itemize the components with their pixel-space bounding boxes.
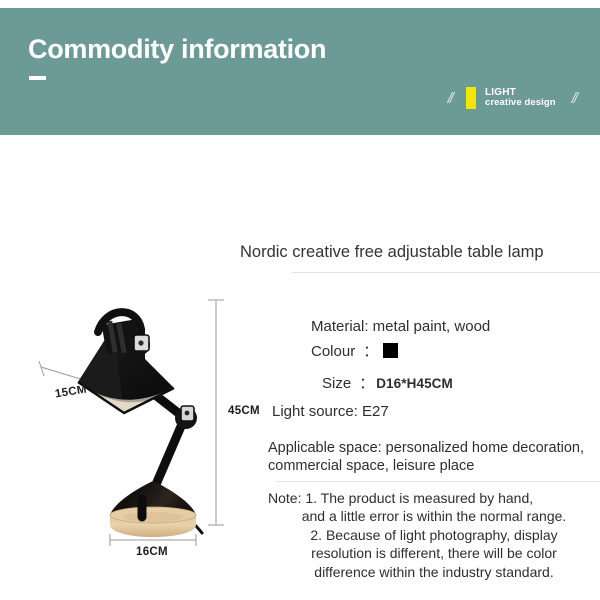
dimension-label-base: 16CM (136, 546, 168, 558)
brand-cluster: // LIGHT creative design // (446, 80, 578, 116)
brand-text-block: LIGHT creative design (485, 87, 556, 109)
note-line-2: and a little error is within the normal … (268, 507, 600, 525)
dimension-height-guide (208, 300, 224, 525)
brand-tagline: creative design (485, 98, 556, 109)
spec-size-value: D16*H45CM (376, 376, 453, 391)
note-line-4: resolution is different, there will be c… (268, 544, 600, 562)
spec-material: Material: metal paint, wood (311, 318, 490, 335)
spec-size: Size：D16*H45CM (322, 372, 453, 393)
note-line-5: difference within the industry standard. (268, 563, 600, 581)
head-adjuster-knob (130, 335, 150, 355)
colour-swatch (383, 343, 398, 358)
spec-colour-label: Colour (311, 343, 355, 360)
applicable-space-text: Applicable space: personalized home deco… (268, 440, 600, 475)
note-block: Note: 1. The product is measured by hand… (268, 489, 600, 581)
dimension-label-height: 45CM (228, 405, 260, 417)
spec-size-label: Size (322, 375, 351, 392)
lamp-product-image (20, 285, 250, 575)
page-title: Commodity information (28, 34, 326, 65)
spec-light-source: Light source: E27 (272, 403, 389, 420)
spec-colour-colon: ： (355, 343, 380, 360)
note-line-1: Note: 1. The product is measured by hand… (268, 489, 600, 507)
slash-right-icon: // (570, 90, 578, 107)
note-line-3: 2. Because of light photography, display (268, 526, 600, 544)
title-divider (292, 272, 600, 273)
brand-accent-bar-icon (466, 87, 476, 109)
slash-left-icon: // (446, 90, 454, 107)
spec-colour: Colour： (311, 340, 398, 361)
lamp-illustration-svg (20, 285, 250, 575)
spec-size-colon: ： (351, 375, 376, 392)
product-title: Nordic creative free adjustable table la… (240, 243, 544, 262)
title-underline-accent (29, 76, 46, 80)
note-divider (276, 481, 600, 482)
header-band: Commodity information // LIGHT creative … (0, 8, 600, 135)
lamp-base (110, 481, 196, 537)
